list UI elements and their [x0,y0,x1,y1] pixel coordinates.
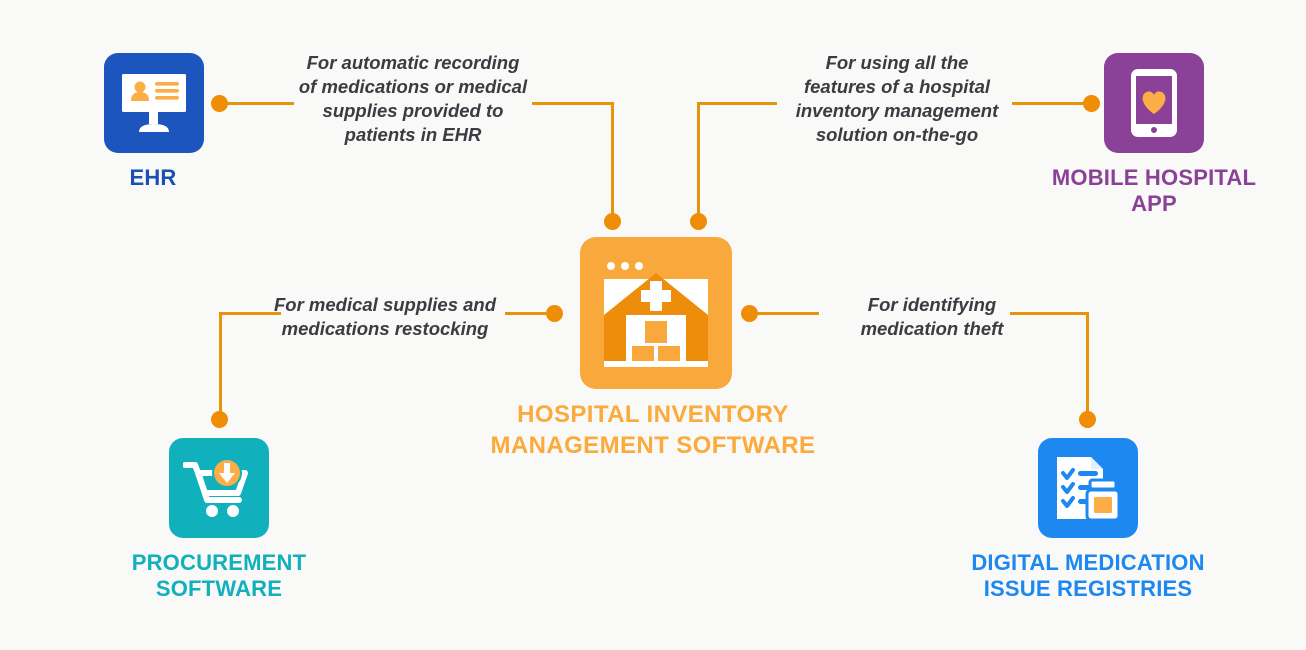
caption-ehr-line3: supplies provided to [323,100,504,121]
registries-label-line1: DIGITAL MEDICATION [971,550,1204,575]
node-label-ehr: EHR [53,165,253,191]
caption-ehr-line4: patients in EHR [345,124,482,145]
hospital-warehouse-icon [596,253,716,373]
node-mobile-hospital-app[interactable] [1104,53,1204,153]
checklist-medicine-bottle-icon [1052,454,1124,522]
connector-ehr-segment-2 [532,102,614,105]
connector-dot-procurement [211,411,228,428]
caption-ehr-line2: of medications or medical [299,76,527,97]
procurement-label-line1: PROCUREMENT [132,550,307,575]
caption-registries-line1: For identifying [868,294,996,315]
mobile-label-line1: MOBILE HOSPITAL [1052,165,1256,190]
connector-dot-registries [1079,411,1096,428]
caption-ehr-line1: For automatic recording [307,52,520,73]
caption-mobile-line3: inventory management [796,100,999,121]
connector-procurement-segment [505,312,553,315]
node-hospital-inventory-management-software[interactable] [580,237,732,389]
center-label-line1: HOSPITAL INVENTORY [517,401,789,428]
caption-registries-line2: medication theft [861,318,1004,339]
node-ehr[interactable] [104,53,204,153]
node-digital-medication-issue-registries[interactable] [1038,438,1138,538]
connector-dot-center-top-left [604,213,621,230]
node-label-digital-medication-issue-registries: DIGITAL MEDICATIONISSUE REGISTRIES [938,550,1238,601]
connector-mobile-segment-2 [697,102,777,105]
procurement-label-line2: SOFTWARE [156,576,282,601]
caption-ehr: For automatic recording of medications o… [288,51,538,147]
connector-dot-center-top-right [690,213,707,230]
caption-mobile-line2: features of a hospital [804,76,990,97]
node-procurement-software[interactable] [169,438,269,538]
smartphone-heart-icon [1129,67,1179,139]
connector-ehr-drop [611,102,614,220]
caption-mobile-hospital-app: For using all the features of a hospital… [786,51,1008,147]
mobile-label-line2: APP [1131,191,1177,216]
caption-mobile-line4: solution on-the-go [816,124,978,145]
connector-mobile-segment [1012,102,1088,105]
connector-registries-segment [757,312,819,315]
shopping-cart-download-icon [183,456,255,520]
caption-mobile-line1: For using all the [826,52,969,73]
center-label-line2: MANAGEMENT SOFTWARE [491,432,816,459]
monitor-patient-record-icon [120,70,188,136]
connector-mobile-drop [697,102,700,220]
node-label-procurement-software: PROCUREMENTSOFTWARE [69,550,369,601]
diagram-canvas: HOSPITAL INVENTORYMANAGEMENT SOFTWARE EH… [0,0,1306,650]
connector-dot-center-right [741,305,758,322]
caption-digital-medication-issue-registries: For identifying medication theft [822,293,1042,341]
node-label-center: HOSPITAL INVENTORYMANAGEMENT SOFTWARE [403,400,903,461]
registries-label-line2: ISSUE REGISTRIES [984,576,1193,601]
ehr-label-text: EHR [129,165,176,190]
connector-ehr-segment [226,102,294,105]
connector-procurement-drop [219,312,222,418]
caption-procurement-line1: For medical supplies and [274,294,496,315]
caption-procurement-software: For medical supplies and medications res… [260,293,510,341]
caption-procurement-line2: medications restocking [282,318,489,339]
node-label-mobile-hospital-app: MOBILE HOSPITALAPP [1004,165,1304,216]
connector-registries-drop [1086,312,1089,418]
